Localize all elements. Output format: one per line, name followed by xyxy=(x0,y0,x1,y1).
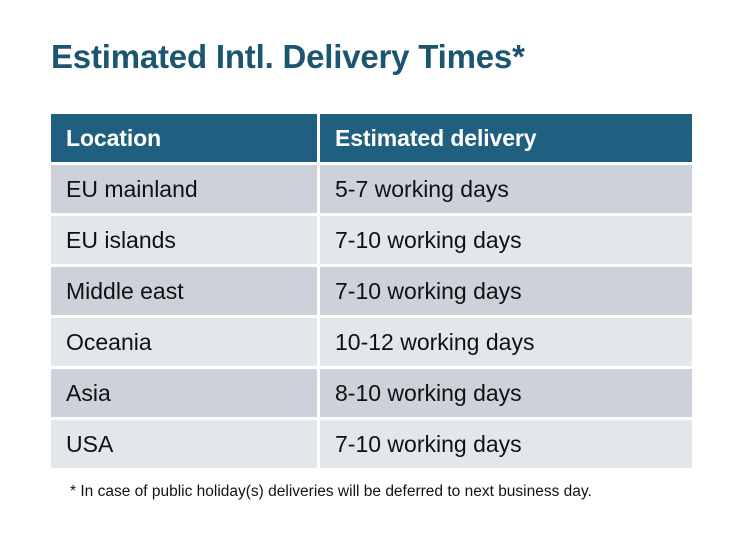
table-row: USA 7-10 working days xyxy=(51,420,692,468)
table-row: EU islands 7-10 working days xyxy=(51,216,692,264)
cell-location: Middle east xyxy=(51,267,317,315)
cell-location: USA xyxy=(51,420,317,468)
cell-location: EU mainland xyxy=(51,165,317,213)
cell-delivery: 7-10 working days xyxy=(320,216,692,264)
cell-delivery: 8-10 working days xyxy=(320,369,692,417)
cell-delivery: 7-10 working days xyxy=(320,420,692,468)
cell-location: EU islands xyxy=(51,216,317,264)
estimated-delivery-table: Location Estimated delivery EU mainland … xyxy=(51,114,692,468)
footnote-text: * In case of public holiday(s) deliverie… xyxy=(70,482,730,502)
table-row: EU mainland 5-7 working days xyxy=(51,165,692,213)
cell-location: Oceania xyxy=(51,318,317,366)
column-header-location: Location xyxy=(51,114,317,162)
page-title: Estimated Intl. Delivery Times* xyxy=(51,37,691,77)
table-header-row: Location Estimated delivery xyxy=(51,114,692,162)
cell-location: Asia xyxy=(51,369,317,417)
table-row: Oceania 10-12 working days xyxy=(51,318,692,366)
table-row: Middle east 7-10 working days xyxy=(51,267,692,315)
delivery-times-panel: Estimated Intl. Delivery Times* Location… xyxy=(0,0,745,536)
column-header-estimated-delivery: Estimated delivery xyxy=(320,114,692,162)
cell-delivery: 5-7 working days xyxy=(320,165,692,213)
cell-delivery: 7-10 working days xyxy=(320,267,692,315)
table-row: Asia 8-10 working days xyxy=(51,369,692,417)
cell-delivery: 10-12 working days xyxy=(320,318,692,366)
